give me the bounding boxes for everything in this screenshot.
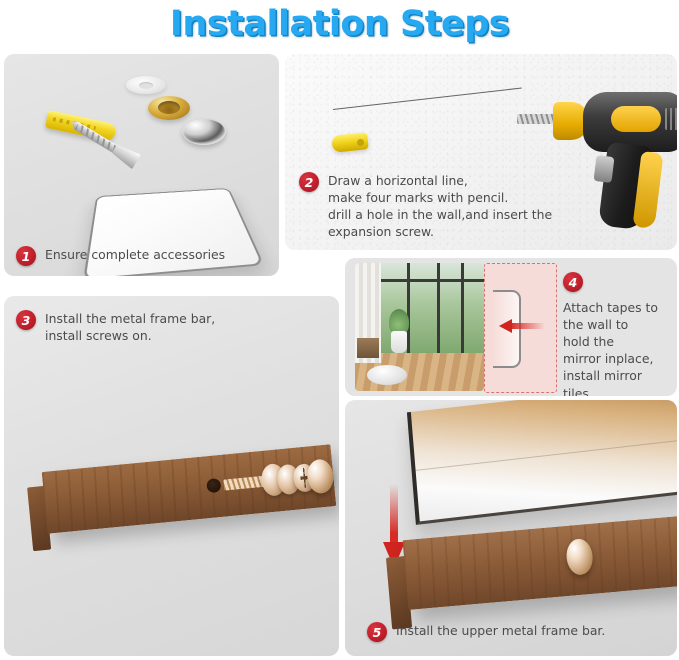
step-1-caption: 1 Ensure complete accessories	[16, 246, 225, 266]
mirror-tile	[407, 400, 677, 525]
washer-part	[126, 76, 166, 94]
drill-bit	[517, 114, 555, 124]
step-1-badge: 1	[16, 246, 36, 266]
room-photo	[355, 263, 484, 391]
frame-bar-face	[402, 516, 677, 610]
page-title: Installation Steps	[170, 4, 509, 44]
upper-wood-frame-bar	[402, 516, 677, 610]
panel-step-4: 4 Attach tapes to the wall to hold the m…	[345, 258, 677, 396]
white-pot	[391, 331, 407, 353]
chrome-cap-part	[182, 118, 226, 145]
step-2-caption: 2 Draw a horizontal line, make four mark…	[299, 172, 552, 240]
pencil-line-mark	[333, 87, 522, 110]
left-arrow-icon	[499, 319, 545, 333]
step-5-badge: 5	[367, 622, 387, 642]
drill-trigger	[593, 155, 614, 183]
panel-step-1: 1 Ensure complete accessories	[4, 54, 279, 276]
step-1-text: Ensure complete accessories	[45, 246, 225, 263]
panel-step-2: 2 Draw a horizontal line, make four mark…	[285, 54, 677, 250]
arrow-tail	[390, 484, 398, 546]
arrow-tail	[509, 323, 545, 329]
expansion-plug	[331, 132, 369, 153]
drill-body	[583, 92, 677, 152]
step-5-text: Install the upper metal frame bar.	[396, 622, 605, 639]
step-2-text: Draw a horizontal line, make four marks …	[328, 172, 552, 240]
panel-step-5: 5 Install the upper metal frame bar.	[345, 400, 677, 656]
step-4-caption: 4 Attach tapes to the wall to hold the m…	[563, 272, 669, 396]
step-3-text: Install the metal frame bar, install scr…	[45, 310, 215, 344]
window-transom	[381, 279, 484, 282]
planter-box	[357, 338, 379, 358]
step-3-caption: 3 Install the metal frame bar, install s…	[16, 310, 215, 344]
down-arrow-icon	[385, 484, 403, 568]
gold-ring-part	[148, 96, 190, 120]
step-4-badge: 4	[563, 272, 583, 292]
step-5-caption: 5 Install the upper metal frame bar.	[367, 622, 605, 642]
step-3-badge: 3	[16, 310, 36, 330]
page-header: Installation Steps	[0, 0, 679, 48]
panel-step-3: 3 Install the metal frame bar, install s…	[4, 296, 339, 656]
arrow-head	[499, 319, 512, 333]
step-2-badge: 2	[299, 172, 319, 192]
floor-pouf	[367, 365, 407, 385]
step-4-text: Attach tapes to the wall to hold the mir…	[563, 299, 669, 396]
drill-vent	[665, 108, 677, 130]
wood-frame-bar	[42, 444, 337, 534]
tape-zone-highlight	[484, 263, 557, 393]
